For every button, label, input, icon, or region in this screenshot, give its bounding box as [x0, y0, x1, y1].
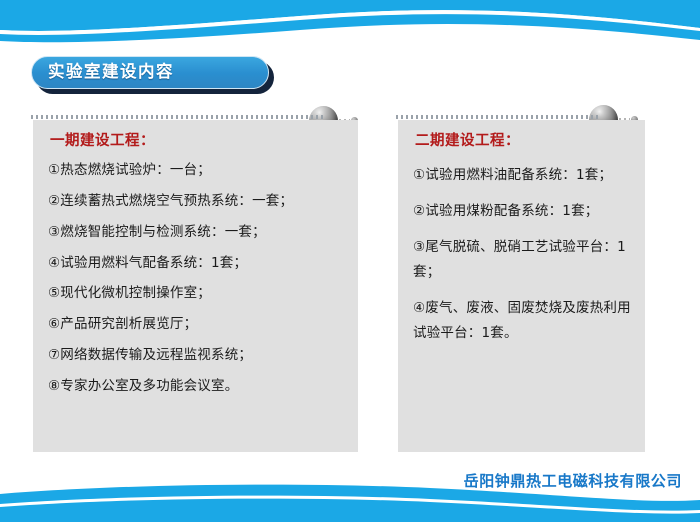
slide-canvas: 实验室建设内容 一期建设工程： ①热态燃烧试验炉：一台； ②连续蓄热式燃烧空气预…: [0, 0, 700, 522]
list-item: ⑤现代化微机控制操作室；: [48, 285, 347, 302]
panel-dotted-rule-right: [396, 115, 601, 119]
phase-one-heading: 一期建设工程：: [50, 134, 347, 150]
phase-one-panel: 一期建设工程： ①热态燃烧试验炉：一台； ②连续蓄热式燃烧空气预热系统：一套； …: [33, 120, 358, 452]
page-title: 实验室建设内容: [32, 64, 174, 81]
footer-company-name: 岳阳钟鼎热工电磁科技有限公司: [464, 470, 682, 491]
panel-dotted-rule-left: [31, 115, 326, 119]
list-item: ②试验用煤粉配备系统：1套；: [413, 199, 634, 224]
list-item: ④废气、废液、固废焚烧及废热利用试验平台：1套。: [413, 296, 634, 346]
phase-one-item-list: ①热态燃烧试验炉：一台； ②连续蓄热式燃烧空气预热系统：一套； ③燃烧智能控制与…: [44, 162, 347, 395]
list-item: ⑦网络数据传输及远程监视系统；: [48, 347, 347, 364]
phase-two-panel: 二期建设工程： ①试验用燃料油配备系统：1套； ②试验用煤粉配备系统：1套； ③…: [398, 120, 645, 452]
list-item: ③尾气脱硫、脱硝工艺试验平台：1套；: [413, 235, 634, 285]
top-wave-decoration: [0, 0, 700, 48]
list-item: ①热态燃烧试验炉：一台；: [48, 162, 347, 179]
list-item: ⑥产品研究剖析展览厅；: [48, 316, 347, 333]
phase-two-item-list: ①试验用燃料油配备系统：1套； ②试验用煤粉配备系统：1套； ③尾气脱硫、脱硝工…: [409, 163, 634, 346]
list-item: ①试验用燃料油配备系统：1套；: [413, 163, 634, 188]
list-item: ⑧专家办公室及多功能会议室。: [48, 378, 347, 395]
list-item: ④试验用燃料气配备系统：1套；: [48, 255, 347, 272]
phase-two-heading: 二期建设工程：: [415, 134, 634, 150]
slide-title-banner: 实验室建设内容: [31, 56, 271, 92]
list-item: ②连续蓄热式燃烧空气预热系统：一套；: [48, 193, 347, 210]
title-pill: 实验室建设内容: [31, 56, 269, 89]
list-item: ③燃烧智能控制与检测系统：一套；: [48, 224, 347, 241]
